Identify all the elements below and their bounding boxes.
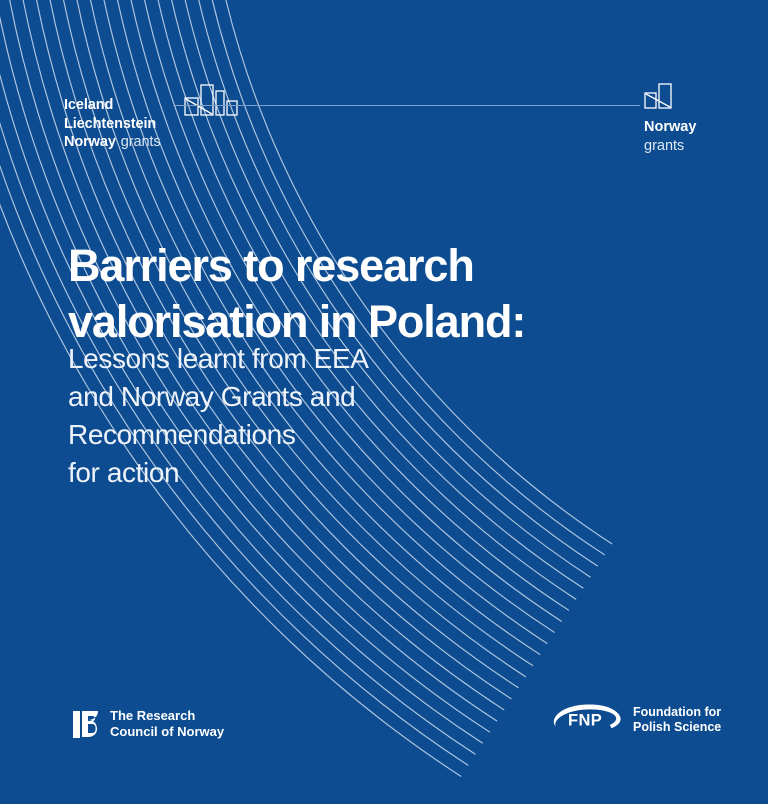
- research-council-of-norway-logo: The Research Council of Norway: [72, 708, 224, 740]
- fnp-line-2: Polish Science: [633, 720, 721, 735]
- research-council-of-norway-mark: [72, 710, 100, 739]
- eea-line-norway: Norway: [64, 134, 116, 150]
- rcn-line-1: The Research: [110, 708, 224, 724]
- logo-band: Iceland Liechtenstein Norwaygrants Norwa…: [0, 0, 768, 180]
- fnp-logo-mark: FNP: [553, 704, 621, 736]
- page-subtitle-line-3: Recommendations: [68, 416, 588, 454]
- page-title: Barriers to research valorisation in Pol…: [68, 238, 688, 350]
- norway-grants-wordmark: Norway grants: [644, 118, 696, 155]
- rcn-line-2: Council of Norway: [110, 724, 224, 740]
- eea-line-liechtenstein: Liechtenstein: [64, 115, 160, 134]
- cover-page: Iceland Liechtenstein Norwaygrants Norwa…: [0, 0, 768, 804]
- fnp-acronym: FNP: [568, 712, 602, 730]
- fnp-line-1: Foundation for: [633, 705, 721, 720]
- eea-line-grants: grants: [121, 134, 161, 150]
- page-subtitle: Lessons learnt from EEA and Norway Grant…: [68, 340, 588, 492]
- eea-line-iceland: Iceland: [64, 96, 160, 115]
- page-title-line-1: Barriers to research: [68, 238, 688, 294]
- header-divider-rule: [175, 105, 640, 106]
- research-council-wordmark: The Research Council of Norway: [110, 708, 224, 740]
- page-subtitle-line-1: Lessons learnt from EEA: [68, 340, 588, 378]
- fnp-wordmark: Foundation for Polish Science: [633, 705, 721, 735]
- norway-line-grants: grants: [644, 137, 696, 156]
- page-subtitle-line-4: for action: [68, 454, 588, 492]
- page-subtitle-line-2: and Norway Grants and: [68, 378, 588, 416]
- iceland-liechtenstein-norway-grants-mark: [184, 82, 240, 116]
- norway-grants-mark: [644, 82, 678, 112]
- norway-line-norway: Norway: [644, 118, 696, 137]
- eea-grants-wordmark: Iceland Liechtenstein Norwaygrants: [64, 96, 160, 152]
- foundation-for-polish-science-logo: FNP Foundation for Polish Science: [553, 704, 721, 736]
